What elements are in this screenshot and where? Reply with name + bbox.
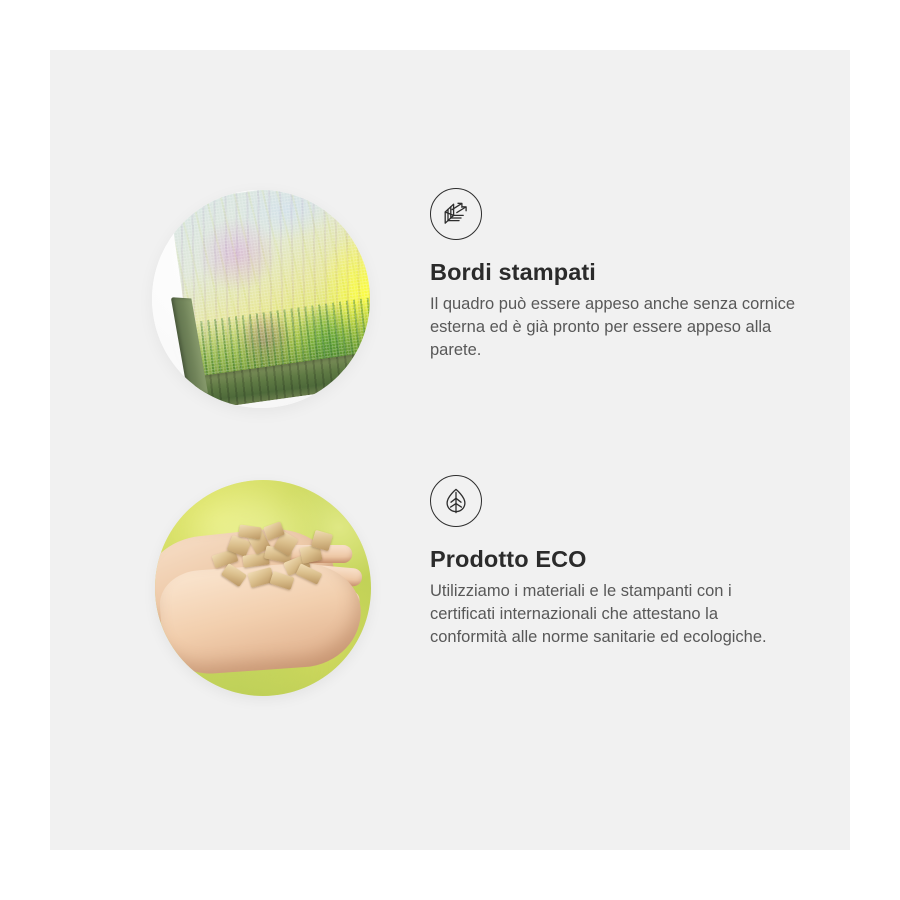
feature-block-printed-edges: Bordi stampati Il quadro può essere appe…: [50, 180, 850, 480]
canvas-corner-photo: [152, 190, 370, 408]
product-feature-infographic: Bordi stampati Il quadro può essere appe…: [0, 0, 900, 900]
feature-title: Bordi stampati: [430, 259, 810, 286]
canvas-corner-object: [169, 190, 370, 408]
eco-photo-background: [155, 480, 371, 696]
printed-edges-icon: [430, 188, 482, 240]
feature-description: Il quadro può essere appeso anche senza …: [430, 293, 796, 362]
wood-chip: [296, 563, 323, 584]
content-panel: Bordi stampati Il quadro può essere appe…: [50, 50, 850, 850]
eco-hands-woodchips-photo: [155, 480, 371, 696]
feature-text-column: Bordi stampati Il quadro può essere appe…: [430, 188, 810, 362]
feature-text-column: Prodotto ECO Utilizziamo i materiali e l…: [430, 475, 810, 649]
wood-chips-pile: [209, 524, 341, 608]
feature-description: Utilizziamo i materiali e le stampanti c…: [430, 580, 796, 649]
leaf-icon: [430, 475, 482, 527]
feature-title: Prodotto ECO: [430, 546, 810, 573]
canvas-photo-background: [152, 190, 370, 408]
feature-block-eco-product: Prodotto ECO Utilizziamo i materiali e l…: [50, 465, 850, 765]
wood-chip: [238, 525, 261, 540]
